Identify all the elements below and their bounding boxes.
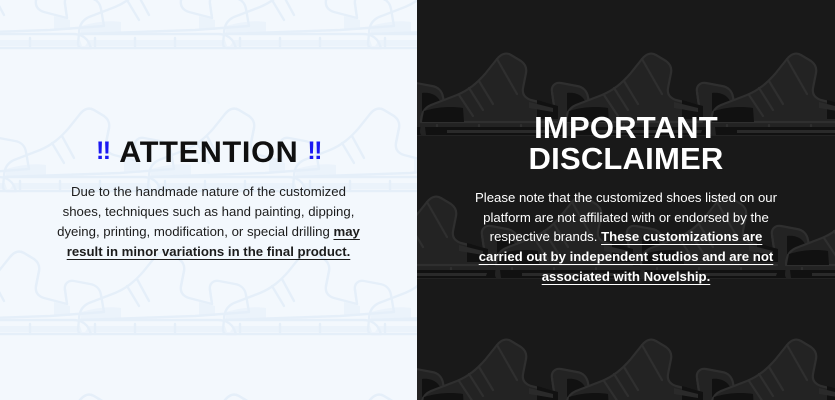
attention-disclaimer-banner: !! ATTENTION !! Due to the handmade natu… [0,0,835,400]
disclaimer-content: IMPORTANT DISCLAIMER Please note that th… [417,0,835,400]
attention-heading: !! ATTENTION !! [96,138,321,168]
attention-body-normal: Due to the handmade nature of the custom… [57,184,354,239]
disclaimer-body: Please note that the customized shoes li… [466,188,786,287]
attention-panel: !! ATTENTION !! Due to the handmade natu… [0,0,417,400]
attention-content: !! ATTENTION !! Due to the handmade natu… [0,0,417,400]
exclamation-left-icon: !! [96,139,110,164]
exclamation-right-icon: !! [307,139,321,164]
attention-title: ATTENTION [119,138,298,168]
disclaimer-title-line-2: DISCLAIMER [529,144,724,174]
disclaimer-title-line-1: IMPORTANT [529,113,724,143]
disclaimer-panel: IMPORTANT DISCLAIMER Please note that th… [417,0,835,400]
disclaimer-heading: IMPORTANT DISCLAIMER [529,113,724,174]
attention-body: Due to the handmade nature of the custom… [51,182,367,262]
